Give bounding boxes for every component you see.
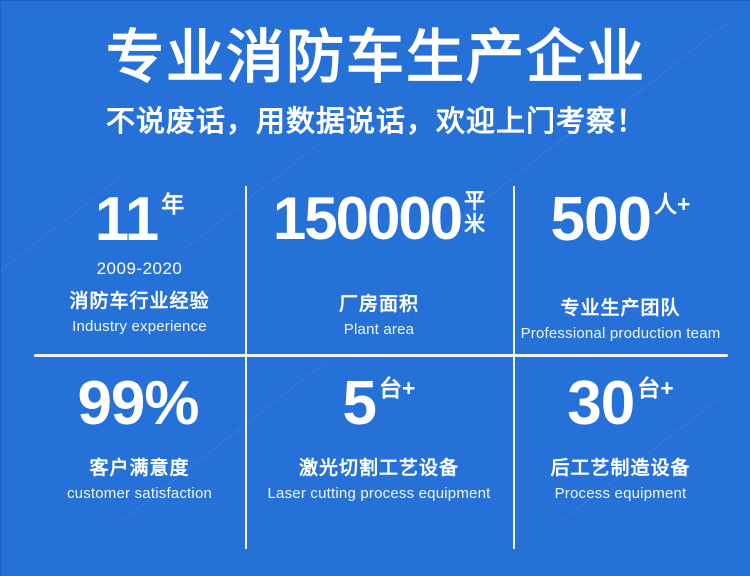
- stat-cell-laser-cutting: 5 台+ 激光切割工艺设备 Laser cutting process equi…: [245, 355, 513, 549]
- page-title: 专业消防车生产企业: [1, 1, 750, 91]
- stat-label-cn: 后工艺制造设备: [550, 453, 690, 480]
- stat-value-row: 99%: [77, 373, 201, 435]
- stat-unit: 人+: [654, 192, 690, 216]
- stat-number: 5: [343, 373, 376, 435]
- stat-value-row: 5 台+: [343, 373, 416, 435]
- stat-unit: 平 米: [464, 191, 485, 236]
- stat-label-cn: 客户满意度: [89, 453, 189, 480]
- stat-year-range: 2009-2020: [97, 259, 183, 279]
- stat-value-row: 11 年: [95, 189, 185, 251]
- stat-unit: 年: [161, 192, 184, 216]
- stat-unit-char-1: 平: [464, 191, 485, 214]
- stat-number: 150000: [273, 189, 461, 249]
- promo-banner: 专业消防车生产企业 不说废话，用数据说话，欢迎上门考察！ 11 年 2009-2…: [0, 0, 750, 576]
- page-subtitle: 不说废话，用数据说话，欢迎上门考察！: [1, 91, 750, 140]
- stat-value-row: 30 台+: [567, 373, 673, 435]
- stat-label-en: Laser cutting process equipment: [268, 485, 491, 502]
- stat-unit-char-2: 米: [464, 214, 485, 237]
- stat-unit: 台+: [637, 376, 673, 400]
- stats-grid: 11 年 2009-2020 消防车行业经验 Industry experien…: [34, 183, 728, 549]
- stat-cell-customer-satisfaction: 99% 客户满意度 customer satisfaction: [34, 355, 245, 549]
- stat-label-cn: 消防车行业经验: [69, 286, 209, 313]
- stat-label-cn: 专业生产团队: [560, 293, 680, 320]
- banner-header: 专业消防车生产企业 不说废话，用数据说话，欢迎上门考察！: [1, 1, 750, 140]
- stat-label-en: Plant area: [344, 321, 414, 338]
- stat-value-row: 150000 平 米: [273, 189, 485, 249]
- stat-number: 99%: [77, 373, 198, 435]
- stat-unit: 台+: [379, 376, 415, 400]
- stat-label-cn: 厂房面积: [339, 289, 419, 316]
- stat-label-en: customer satisfaction: [67, 485, 212, 502]
- stat-number: 30: [567, 373, 634, 435]
- stat-label-en: Industry experience: [72, 318, 207, 335]
- stat-number: 500: [551, 189, 651, 251]
- stat-cell-process-equipment: 30 台+ 后工艺制造设备 Process equipment: [513, 355, 728, 549]
- stat-cell-industry-experience: 11 年 2009-2020 消防车行业经验 Industry experien…: [34, 183, 245, 355]
- stat-number: 11: [95, 189, 159, 251]
- stat-cell-plant-area: 150000 平 米 厂房面积 Plant area: [245, 183, 513, 355]
- stat-label-en: Process equipment: [555, 485, 687, 502]
- stat-label-en: Professional production team: [521, 325, 721, 342]
- stat-cell-production-team: 500 人+ 专业生产团队 Professional production te…: [513, 183, 728, 355]
- stat-value-row: 500 人+: [551, 189, 691, 251]
- stat-label-cn: 激光切割工艺设备: [299, 453, 459, 480]
